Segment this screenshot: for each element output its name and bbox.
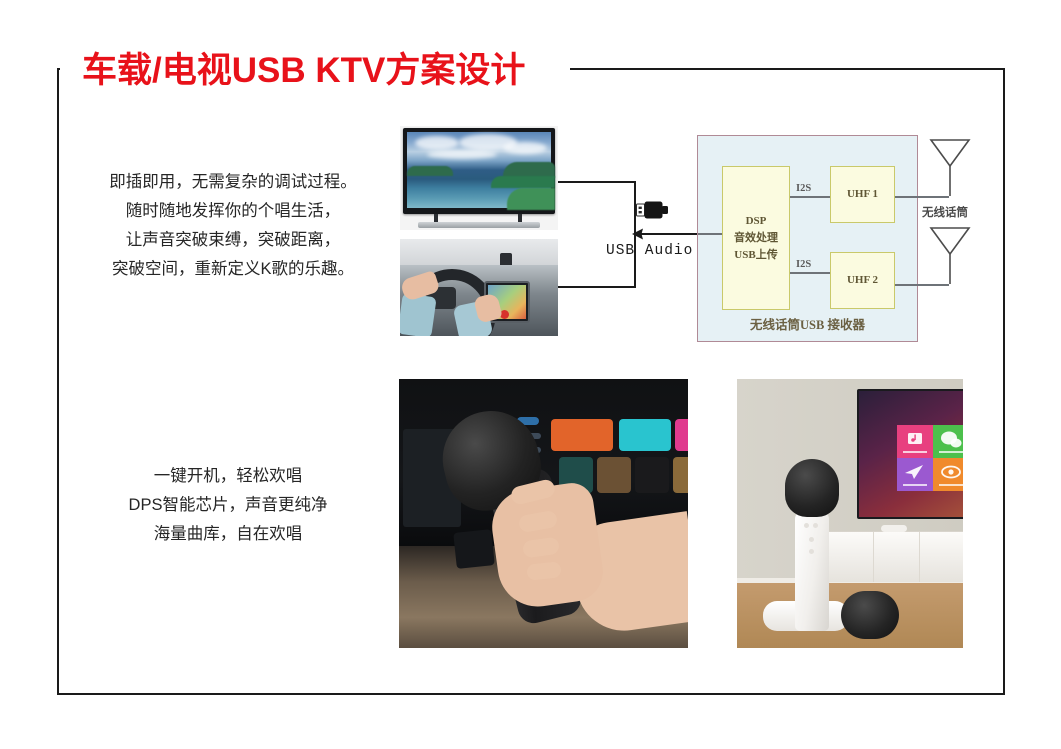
windshield-view bbox=[400, 239, 558, 265]
display-tile-thumb bbox=[597, 457, 631, 493]
mic-button bbox=[809, 537, 814, 542]
display-tile-thumb bbox=[635, 457, 669, 493]
eye-icon bbox=[933, 458, 963, 491]
microphone-body-standing bbox=[795, 511, 829, 631]
mic-button bbox=[804, 523, 809, 528]
cabinet-divider bbox=[919, 532, 920, 582]
usb-audio-label: USB Audio bbox=[606, 243, 693, 259]
antenna-icon-upper bbox=[925, 134, 975, 200]
dsp-block: DSP 音效处理 USB上传 bbox=[722, 166, 790, 310]
feature-line-2: DPS智能芯片，声音更纯净 bbox=[78, 491, 378, 520]
chat-bubble-icon bbox=[933, 425, 963, 458]
cloud-shape bbox=[427, 150, 497, 159]
television-display-photo bbox=[400, 126, 558, 230]
uhf1-block: UHF 1 bbox=[830, 166, 895, 223]
usb-connector-icon bbox=[636, 200, 670, 220]
driver-arm-left bbox=[400, 293, 437, 336]
tv-tile-send bbox=[897, 458, 933, 491]
shore-shape bbox=[491, 176, 555, 188]
car-dashboard-photo bbox=[400, 239, 558, 336]
display-tile-pink bbox=[675, 419, 688, 451]
intro-line-3: 让声音突破束缚，突破距离， bbox=[78, 226, 388, 255]
display-tile-cyan bbox=[619, 419, 671, 451]
dsp-line-2: 音效处理 bbox=[734, 230, 778, 247]
tv-console-cabinet bbox=[829, 531, 963, 582]
mic-button bbox=[809, 549, 814, 554]
mic-button bbox=[813, 523, 818, 528]
uhf2-block: UHF 2 bbox=[830, 252, 895, 309]
feature-line-1: 一键开机，轻松欢唱 bbox=[78, 462, 378, 491]
feature-line-3: 海量曲库，自在欢唱 bbox=[78, 520, 378, 549]
tv-connection-wire bbox=[558, 181, 636, 183]
antenna-icon-lower bbox=[925, 222, 975, 288]
tv-tile-view bbox=[933, 458, 963, 491]
tv-screen-image bbox=[407, 132, 551, 208]
microphone-foam-lying bbox=[841, 591, 899, 639]
usb-input-line bbox=[698, 233, 722, 235]
i2s-label-lower: I2S bbox=[796, 259, 811, 270]
intro-paragraph: 即插即用，无需复杂的调试过程。 随时随地发挥你的个唱生活， 让声音突破束缚，突破… bbox=[78, 168, 388, 284]
air-vent bbox=[453, 529, 495, 569]
shore-shape bbox=[507, 188, 555, 210]
dsp-to-uhf1-line bbox=[790, 196, 830, 198]
tv-base bbox=[418, 222, 540, 228]
intro-line-1: 即插即用，无需复杂的调试过程。 bbox=[78, 168, 388, 197]
microphone-in-car-photo bbox=[399, 379, 688, 648]
receiver-caption: 无线话筒USB 接收器 bbox=[698, 314, 917, 333]
microphones-with-tv-photo bbox=[737, 379, 963, 648]
dsp-to-uhf2-line bbox=[790, 272, 830, 274]
paper-plane-icon bbox=[897, 458, 933, 491]
cloud-shape bbox=[415, 136, 459, 150]
intro-line-2: 随时随地发挥你的个唱生活， bbox=[78, 197, 388, 226]
dsp-line-1: DSP bbox=[746, 213, 767, 230]
display-tile-orange bbox=[551, 419, 613, 451]
cloud-shape bbox=[503, 142, 547, 154]
car-connection-wire bbox=[558, 286, 636, 288]
tv-bezel bbox=[403, 128, 555, 214]
page-title: 车载/电视USB KTV方案设计 bbox=[82, 42, 525, 93]
hill-shape bbox=[407, 166, 453, 176]
display-tile-thumb bbox=[673, 457, 688, 493]
intro-line-4: 突破空间，重新定义K歌的乐趣。 bbox=[78, 255, 388, 284]
cabinet-divider bbox=[873, 532, 874, 582]
tv-tile-music bbox=[897, 425, 933, 458]
feature-paragraph: 一键开机，轻松欢唱 DPS智能芯片，声音更纯净 海量曲库，自在欢唱 bbox=[78, 462, 378, 549]
wall-mounted-tv bbox=[857, 389, 963, 519]
music-folder-icon bbox=[897, 425, 933, 458]
remote-control bbox=[881, 525, 907, 532]
dsp-line-3: USB上传 bbox=[734, 247, 777, 264]
arrow-left-icon bbox=[630, 225, 648, 243]
i2s-label-upper: I2S bbox=[796, 183, 811, 194]
wireless-microphone-label: 无线话筒 bbox=[922, 204, 968, 220]
tv-tile-chat bbox=[933, 425, 963, 458]
microphone-foam-standing bbox=[785, 459, 839, 517]
